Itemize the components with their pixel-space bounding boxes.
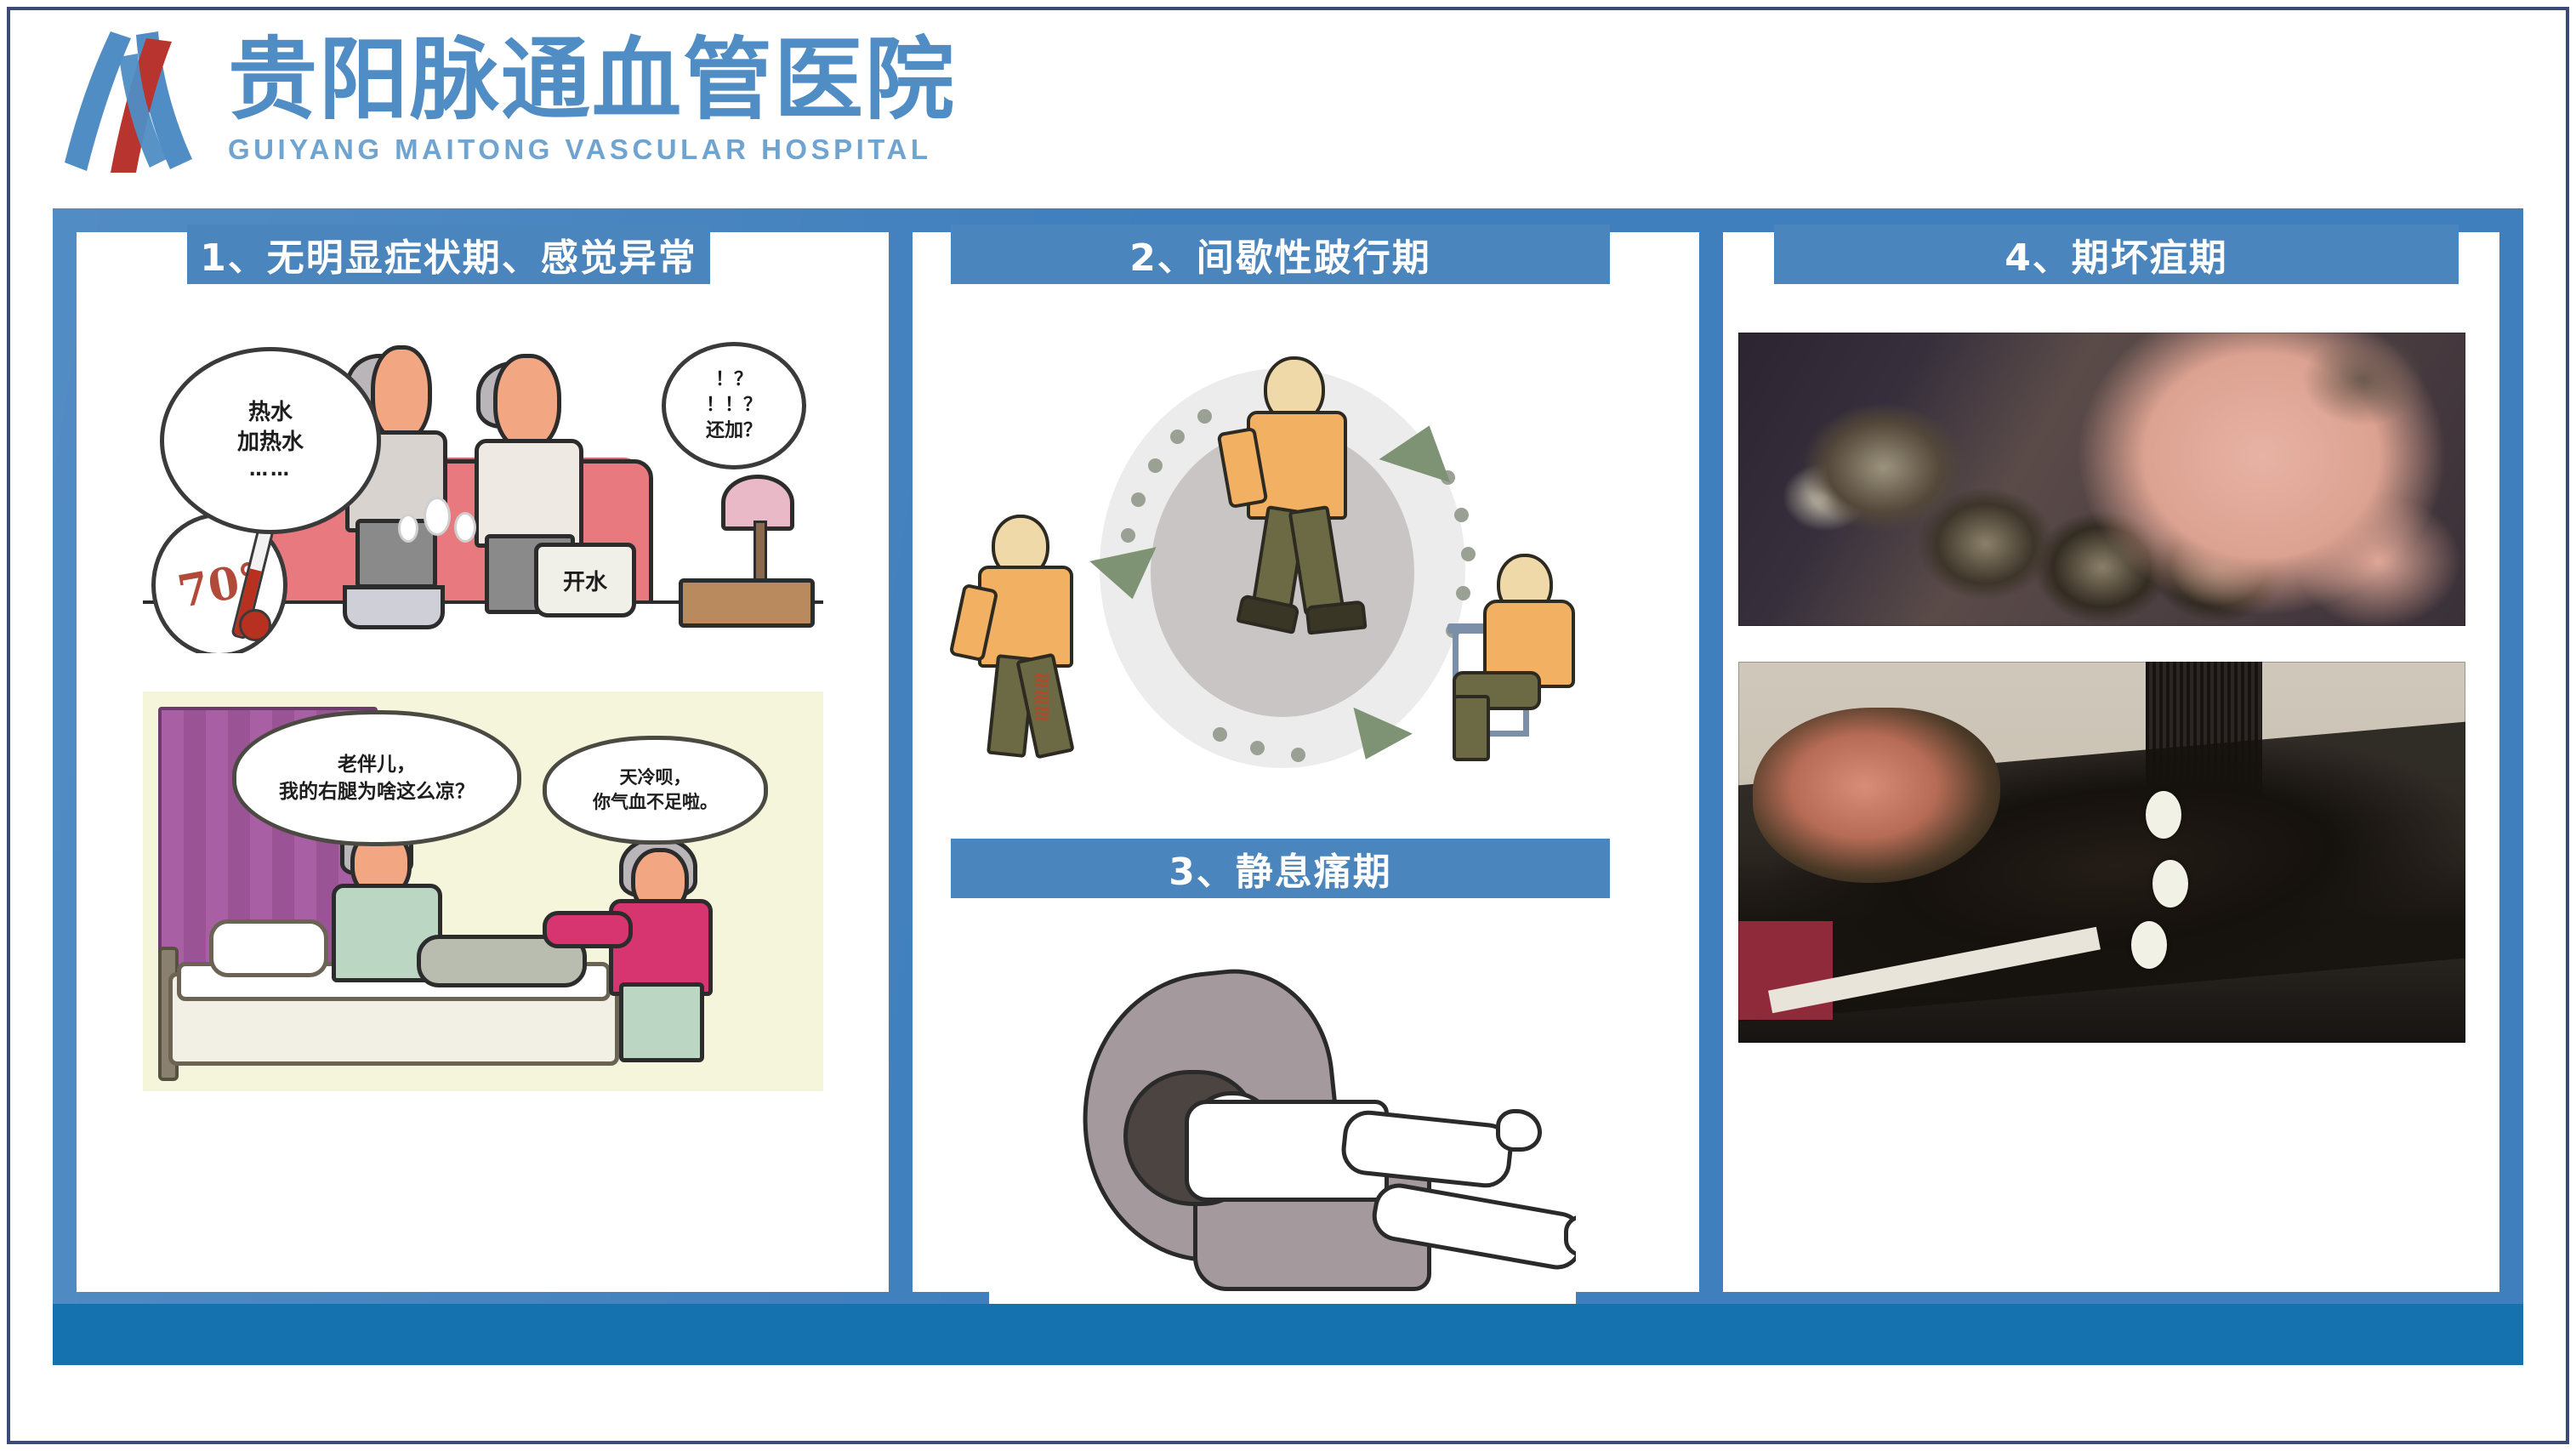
bubble-line-2: ！！？ xyxy=(706,393,762,418)
cotton-swab xyxy=(2146,791,2181,839)
walk-shoe xyxy=(1305,600,1367,634)
kettle: 开水 xyxy=(534,543,636,617)
speech-bubble-surprise: ！？ ！！？ 还加？ xyxy=(662,342,806,469)
cycle-dot xyxy=(1170,430,1185,444)
speech-bubble-reply: 天冷呗， 你气血不足啦。 xyxy=(543,736,768,845)
cycle-dot xyxy=(1461,547,1476,561)
stage-1-panel: 1、无明显症状期、感觉异常 xyxy=(77,232,889,1292)
cycle-dot xyxy=(1250,741,1265,755)
stages-frame: 1、无明显症状期、感觉异常 xyxy=(53,208,2523,1365)
cycle-dot xyxy=(1291,748,1305,762)
cycle-dot xyxy=(1454,508,1469,522)
lamp-pole xyxy=(753,521,767,585)
cotton-swab xyxy=(2152,860,2188,908)
hospital-name-en: GUIYANG MAITONG VASCULAR HOSPITAL xyxy=(228,134,956,166)
gangrene-toes-photo xyxy=(1738,333,2465,626)
stage-2-3-panel: 2、间歇性跛行期 xyxy=(913,232,1699,1292)
hospital-logo-icon xyxy=(58,26,202,175)
bubble-line-2: 你气血不足啦。 xyxy=(593,790,718,815)
rest-pain-illustration xyxy=(989,942,1576,1351)
stage-2-banner: 2、间歇性跛行期 xyxy=(951,225,1610,284)
rest-shin xyxy=(1453,695,1490,761)
cotton-swab xyxy=(2131,921,2167,969)
hospital-name-block: 贵阳脉通血管医院 GUIYANG MAITONG VASCULAR HOSPIT… xyxy=(228,35,956,165)
cycle-dot xyxy=(1456,586,1470,600)
gangrene-toes-image xyxy=(1738,333,2465,626)
cycle-dot xyxy=(1131,492,1146,507)
hospital-name-cn: 贵阳脉通血管医院 xyxy=(228,35,956,126)
stage-3-banner: 3、静息痛期 xyxy=(951,839,1610,898)
speech-bubble-hot-water: 热水 加热水 …… xyxy=(160,347,381,534)
man-legs xyxy=(355,519,437,589)
bubble-line-2: 我的右腿为啥这么凉？ xyxy=(279,778,475,805)
stage-4-banner: 4、期坏疽期 xyxy=(1774,225,2459,284)
stage-4-panel: 4、期坏疽期 xyxy=(1723,232,2499,1292)
stage-1-banner: 1、无明显症状期、感觉异常 xyxy=(187,225,710,284)
bubble-line-2: 加热水 xyxy=(237,428,304,458)
bubble-line-3: …… xyxy=(249,458,292,483)
pourer-torso xyxy=(475,439,583,548)
bubble-line-1: ！？ xyxy=(715,367,753,393)
bubble-line-1: 老伴儿， xyxy=(279,751,475,778)
speech-bubble-cold-leg: 老伴儿， 我的右腿为啥这么凉？ xyxy=(232,710,521,846)
bubble-line-3: 还加？ xyxy=(706,418,762,444)
cycle-dot xyxy=(1197,409,1212,424)
bubble-line-1: 热水 xyxy=(248,398,293,428)
claudication-cycle-illustration: ≋≋≋ xyxy=(942,334,1623,811)
side-table xyxy=(679,578,815,628)
steam-puff xyxy=(454,512,476,543)
page-header: 贵阳脉通血管医院 GUIYANG MAITONG VASCULAR HOSPIT… xyxy=(0,15,2576,185)
pourer-head xyxy=(493,354,561,451)
steam-puff xyxy=(398,514,418,543)
frame-bottom-band xyxy=(53,1304,2523,1365)
stages-columns: 1、无明显症状期、感觉异常 xyxy=(53,208,2523,1365)
woman-arm xyxy=(543,911,633,948)
foot-basin xyxy=(343,585,445,629)
hot-water-cartoon: 开水 70° 热水 加热水 …… ！？ ！！？ 还加？ xyxy=(143,330,823,653)
woman-legs xyxy=(619,982,704,1062)
gangrene-leg-photo xyxy=(1738,662,2465,1043)
bed-scene-cartoon: 老伴儿， 我的右腿为啥这么凉？ 天冷呗， 你气血不足啦。 xyxy=(143,691,823,1091)
steam-puff xyxy=(424,497,451,536)
thermometer-bulb xyxy=(239,609,271,641)
cycle-dot xyxy=(1213,727,1227,742)
bubble-line-1: 天冷呗， xyxy=(593,765,718,790)
cycle-dot xyxy=(1148,458,1163,473)
pillow xyxy=(209,919,328,977)
cycle-dot xyxy=(1121,528,1135,543)
foot xyxy=(1496,1109,1542,1152)
